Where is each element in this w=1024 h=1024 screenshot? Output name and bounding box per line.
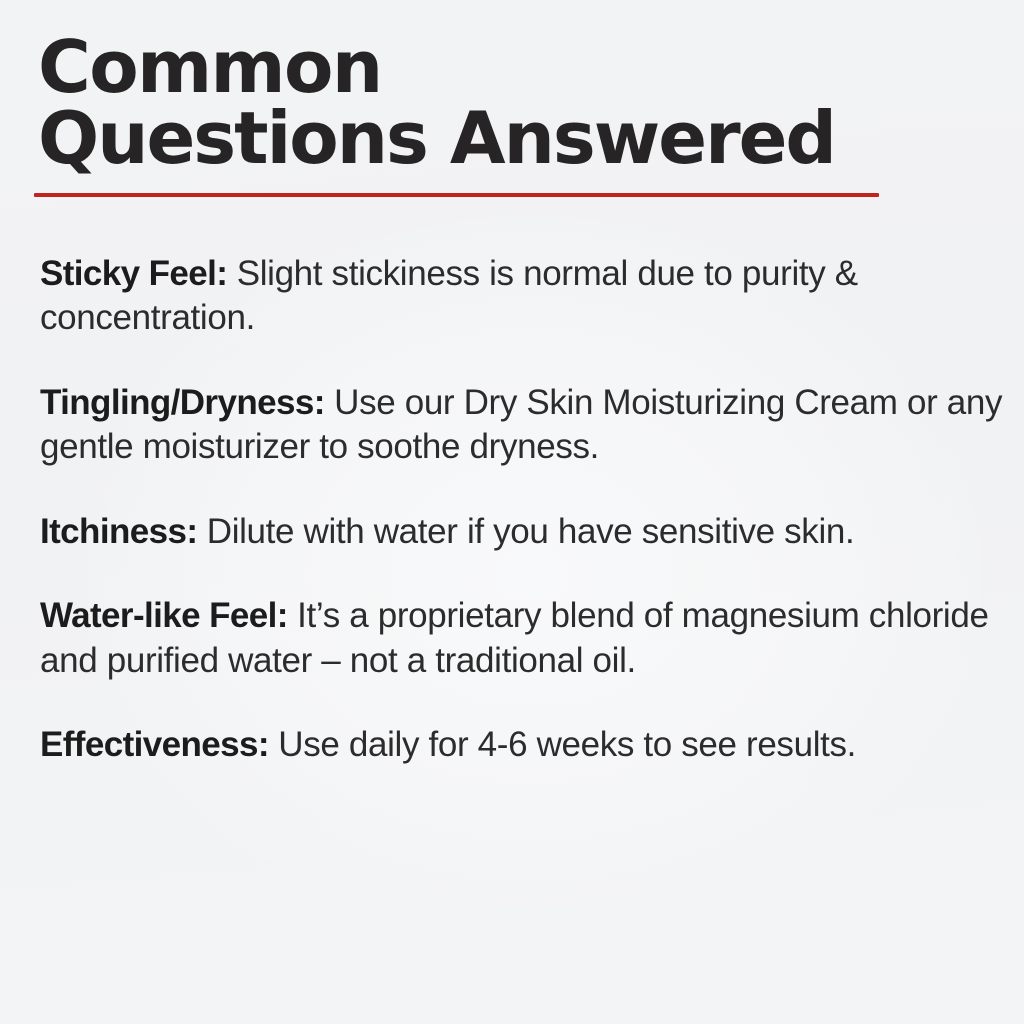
faq-answer: Use daily for 4-6 weeks to see results.: [269, 725, 856, 764]
faq-label: Water-like Feel:: [40, 596, 288, 635]
faq-item-itchiness: Itchiness: Dilute with water if you have…: [40, 510, 1012, 554]
faq-label: Effectiveness:: [40, 725, 269, 764]
faq-label: Sticky Feel:: [40, 254, 227, 293]
faq-answer: Dilute with water if you have sensitive …: [197, 512, 854, 551]
page-title-line-1: Common: [38, 32, 938, 103]
faq-item-water-like-feel: Water-like Feel: It’s a proprietary blen…: [40, 594, 1012, 683]
faq-item-sticky-feel: Sticky Feel: Slight stickiness is normal…: [40, 252, 1012, 341]
faq-label: Itchiness:: [40, 512, 197, 551]
page-title-line-2: Questions Answered: [38, 103, 938, 174]
faq-card: Common Questions Answered Sticky Feel: S…: [0, 0, 1024, 1024]
faq-item-tingling-dryness: Tingling/Dryness: Use our Dry Skin Moist…: [40, 381, 1012, 470]
page-title: Common Questions Answered: [38, 32, 938, 175]
faq-label: Tingling/Dryness:: [40, 383, 325, 422]
header-divider: [34, 193, 879, 197]
faq-item-effectiveness: Effectiveness: Use daily for 4-6 weeks t…: [40, 723, 1012, 767]
header: Common Questions Answered: [38, 32, 938, 175]
faq-list: Sticky Feel: Slight stickiness is normal…: [40, 252, 1012, 768]
